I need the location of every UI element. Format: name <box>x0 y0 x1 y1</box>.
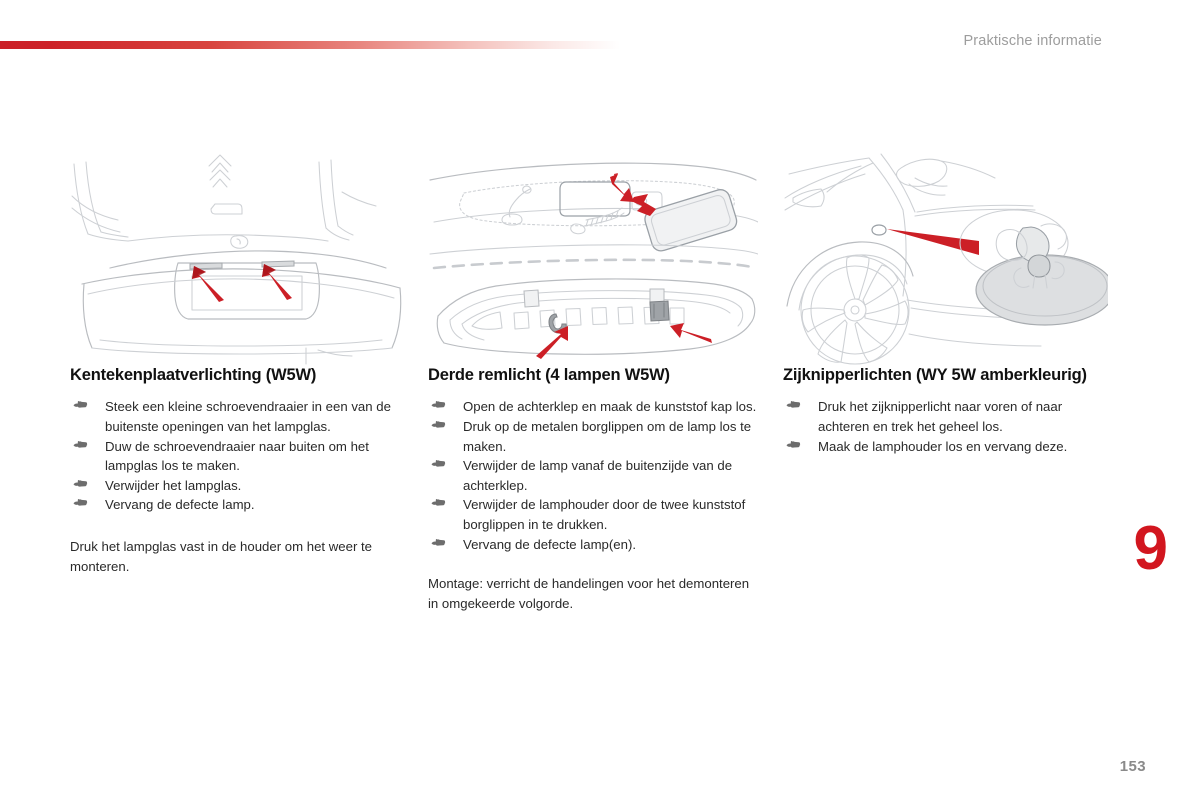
manicule-pointing-hand-icon <box>785 438 801 452</box>
instruction-list-number-plate-lamp: Steek een kleine schroevendraaier in een… <box>70 397 410 515</box>
list-item-text: Steek een kleine schroevendraaier in een… <box>105 399 391 434</box>
content-column-number-plate-lamp: Kentekenplaatverlichting (W5W) Steek een… <box>70 150 410 576</box>
list-item: Vervang de defecte lamp. <box>70 495 410 515</box>
list-item-text: Duw de schroevendraaier naar buiten om h… <box>105 439 369 474</box>
closing-paragraph-number-plate-lamp: Druk het lampglas vast in de houder om h… <box>70 537 410 576</box>
manicule-pointing-hand-icon <box>430 536 446 550</box>
chapter-number-badge: 9 <box>1134 518 1167 580</box>
instruction-list-side-repeater: Druk het zijknipperlicht naar voren of n… <box>783 397 1108 456</box>
list-item: Open de achterklep en maak de kunststof … <box>428 397 758 417</box>
list-item-text: Vervang de defecte lamp(en). <box>463 537 636 552</box>
manicule-pointing-hand-icon <box>72 496 88 510</box>
side-repeater-indicator-illustration <box>783 150 1108 365</box>
list-item-text: Vervang de defecte lamp. <box>105 497 255 512</box>
list-item: Verwijder de lamphouder door de twee kun… <box>428 495 758 534</box>
list-item-text: Verwijder de lamp vanaf de buitenzijde v… <box>463 458 732 493</box>
section-heading-third-brake-light: Derde remlicht (4 lampen W5W) <box>428 365 758 386</box>
list-item: Druk op de metalen borglippen om de lamp… <box>428 417 758 456</box>
page-header-title: Praktische informatie <box>963 33 1102 49</box>
list-item: Duw de schroevendraaier naar buiten om h… <box>70 437 410 476</box>
manicule-pointing-hand-icon <box>430 457 446 471</box>
page-number: 153 <box>1120 758 1146 775</box>
section-heading-number-plate-lamp: Kentekenplaatverlichting (W5W) <box>70 365 410 386</box>
manicule-pointing-hand-icon <box>430 496 446 510</box>
manicule-pointing-hand-icon <box>430 418 446 432</box>
manicule-pointing-hand-icon <box>785 398 801 412</box>
list-item-text: Druk het zijknipperlicht naar voren of n… <box>818 399 1062 434</box>
manicule-pointing-hand-icon <box>72 438 88 452</box>
manicule-pointing-hand-icon <box>72 477 88 491</box>
manicule-pointing-hand-icon <box>72 398 88 412</box>
list-item: Verwijder het lampglas. <box>70 476 410 496</box>
list-item: Druk het zijknipperlicht naar voren of n… <box>783 397 1108 436</box>
manicule-pointing-hand-icon <box>430 398 446 412</box>
list-item-text: Verwijder de lamphouder door de twee kun… <box>463 497 745 532</box>
content-column-third-brake-light: Derde remlicht (4 lampen W5W) Open de ac… <box>428 150 758 613</box>
content-column-side-repeater: Zijknipperlichten (WY 5W amberkleurig) D… <box>783 150 1108 456</box>
third-brake-light-illustration <box>428 150 758 365</box>
list-item-text: Open de achterklep en maak de kunststof … <box>463 399 756 414</box>
list-item: Verwijder de lamp vanaf de buitenzijde v… <box>428 456 758 495</box>
list-item-text: Maak de lamphouder los en vervang deze. <box>818 439 1067 454</box>
list-item: Maak de lamphouder los en vervang deze. <box>783 437 1108 457</box>
rear-tailgate-number-plate-lamp-illustration <box>70 150 410 365</box>
closing-paragraph-third-brake-light: Montage: verricht de handelingen voor he… <box>428 574 758 613</box>
list-item: Steek een kleine schroevendraaier in een… <box>70 397 410 436</box>
section-heading-side-repeater: Zijknipperlichten (WY 5W amberkleurig) <box>783 365 1108 386</box>
header-red-gradient-rule <box>0 41 620 49</box>
list-item-text: Verwijder het lampglas. <box>105 478 241 493</box>
list-item-text: Druk op de metalen borglippen om de lamp… <box>463 419 751 454</box>
instruction-list-third-brake-light: Open de achterklep en maak de kunststof … <box>428 397 758 554</box>
list-item: Vervang de defecte lamp(en). <box>428 535 758 555</box>
page-header: Praktische informatie <box>0 0 1200 70</box>
